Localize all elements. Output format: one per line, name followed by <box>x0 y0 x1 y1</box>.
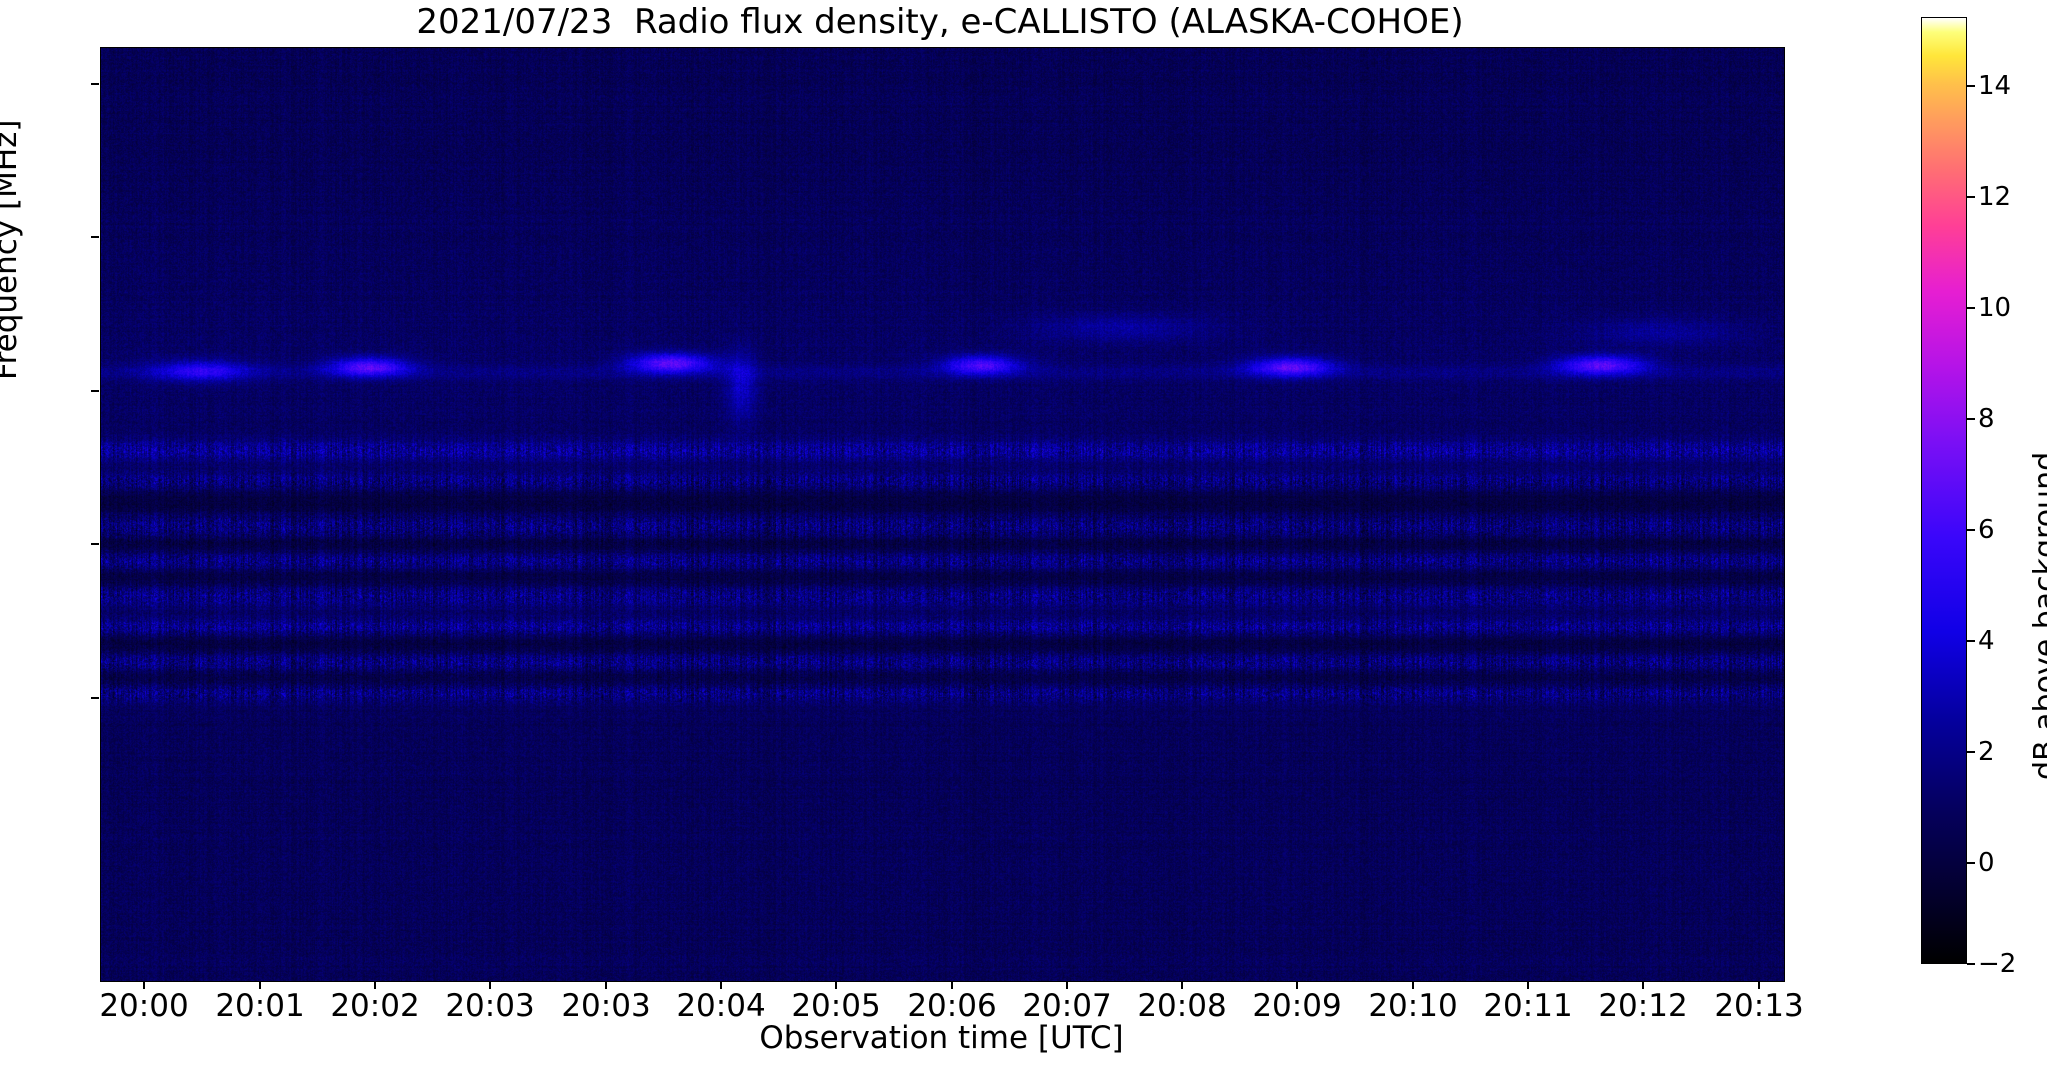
colorbar-tick-mark <box>1967 196 1975 198</box>
colorbar-tick-mark <box>1967 751 1975 753</box>
y-tick-mark <box>91 236 99 238</box>
y-tick-mark <box>91 83 99 85</box>
x-tick-mark <box>1296 981 1298 989</box>
x-tick-mark <box>489 981 491 989</box>
x-tick-label: 20:13 <box>1679 988 1839 1024</box>
colorbar-tick-label: 2 <box>1978 737 2047 767</box>
colorbar-tick-mark <box>1967 862 1975 864</box>
colorbar-tick-mark <box>1967 529 1975 531</box>
spectrogram-plot-area <box>100 47 1785 982</box>
x-tick-mark <box>605 981 607 989</box>
spectrogram-image <box>101 48 1784 981</box>
page-title: 2021/07/23 Radio flux density, e-CALLIST… <box>0 2 1880 42</box>
x-tick-mark <box>835 981 837 989</box>
colorbar-tick-mark <box>1967 307 1975 309</box>
x-tick-mark <box>1758 981 1760 989</box>
x-tick-mark <box>374 981 376 989</box>
y-tick-mark <box>91 543 99 545</box>
x-tick-mark <box>1412 981 1414 989</box>
spectrogram-figure: 2021/07/23 Radio flux density, e-CALLIST… <box>0 0 2047 1067</box>
colorbar-tick-mark <box>1967 963 1975 965</box>
colorbar-tick-mark <box>1967 418 1975 420</box>
x-tick-mark <box>951 981 953 989</box>
colorbar-tick-label: 14 <box>1978 71 2047 101</box>
y-tick-mark <box>91 390 99 392</box>
colorbar-tick-mark <box>1967 640 1975 642</box>
x-tick-mark <box>1527 981 1529 989</box>
colorbar-label: dB above background <box>2028 160 2047 780</box>
x-tick-mark <box>720 981 722 989</box>
colorbar-tick-label: 6 <box>1978 515 2047 545</box>
colorbar-tick-label: −2 <box>1978 949 2047 979</box>
colorbar <box>1921 17 1967 964</box>
colorbar-tick-label: 10 <box>1978 293 2047 323</box>
colorbar-tick-mark <box>1967 85 1975 87</box>
x-tick-mark <box>1066 981 1068 989</box>
colorbar-tick-label: 0 <box>1978 848 2047 878</box>
colorbar-tick-label: 12 <box>1978 182 2047 212</box>
colorbar-tick-label: 4 <box>1978 626 2047 656</box>
y-tick-mark <box>91 697 99 699</box>
colorbar-gradient <box>1922 18 1966 963</box>
x-axis-label: Observation time [UTC] <box>100 1020 1783 1056</box>
x-tick-mark <box>143 981 145 989</box>
colorbar-tick-label: 8 <box>1978 404 2047 434</box>
y-axis-label: Frequency [MHz] <box>0 0 24 380</box>
x-tick-mark <box>1642 981 1644 989</box>
x-tick-mark <box>259 981 261 989</box>
x-tick-mark <box>1181 981 1183 989</box>
